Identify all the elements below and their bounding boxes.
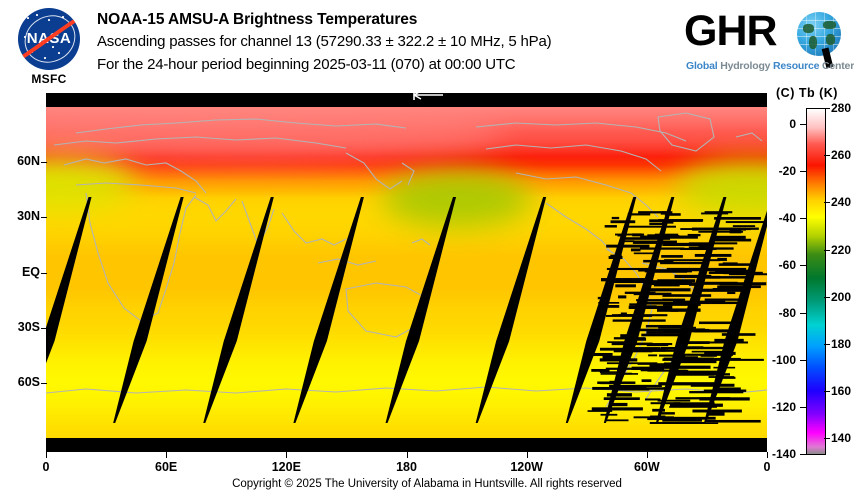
anomaly-scanline xyxy=(706,420,760,423)
anomaly-scanline xyxy=(662,299,685,301)
anomaly-scanline xyxy=(636,305,657,308)
anomaly-scanline xyxy=(638,211,670,213)
anomaly-scanline xyxy=(664,259,720,261)
longitude-tickmark xyxy=(407,452,408,458)
anomaly-scanline xyxy=(690,302,744,304)
anomaly-scanline xyxy=(730,230,742,233)
anomaly-scanline xyxy=(633,241,677,244)
anomaly-scanline xyxy=(622,373,632,375)
anomaly-scanline xyxy=(621,312,627,315)
anomaly-scanline xyxy=(600,371,622,373)
ghrc-subtitle: Global Hydrology Resource Center xyxy=(686,60,854,72)
colorbar-celsius-tickmark xyxy=(800,360,806,361)
anomaly-scanline xyxy=(657,279,695,282)
anomaly-scanline xyxy=(662,294,711,297)
anomaly-scanline xyxy=(612,343,653,346)
colorbar-kelvin-tickmark xyxy=(824,155,830,156)
orbit-gap-wedge xyxy=(386,341,420,423)
anomaly-scanline xyxy=(642,379,652,382)
anomaly-scanline xyxy=(619,240,634,242)
colorbar-kelvin-label-7: 140 xyxy=(831,431,851,445)
anomaly-scanline xyxy=(646,331,689,334)
anomaly-scanline xyxy=(631,248,641,251)
orbit-gap-wedge xyxy=(314,197,364,341)
longitude-tick-2: 120E xyxy=(256,460,316,474)
anomaly-scanline xyxy=(601,414,618,416)
anomaly-scanline xyxy=(620,334,637,337)
anomaly-scanline xyxy=(676,371,718,374)
orbit-gap-wedge xyxy=(406,197,456,341)
longitude-tick-1: 60E xyxy=(136,460,196,474)
figure-root: NASA MSFC NOAA-15 AMSU-A Brightness Temp… xyxy=(0,0,854,502)
anomaly-scanline xyxy=(664,387,671,389)
anomaly-scanline xyxy=(673,373,715,375)
colorbar-kelvin-label-6: 160 xyxy=(831,384,851,398)
anomaly-scanline xyxy=(661,255,683,258)
anomaly-scanline xyxy=(602,305,619,308)
anomaly-scanline xyxy=(661,343,672,345)
colorbar-celsius-tickmark xyxy=(800,124,806,125)
longitude-tickmark xyxy=(166,452,167,458)
nasa-swoosh-icon xyxy=(18,12,80,66)
anomaly-scanline xyxy=(658,400,691,402)
longitude-tick-5: 60W xyxy=(617,460,677,474)
colorbar-kelvin-label-3: 220 xyxy=(831,243,851,257)
anomaly-scanline xyxy=(688,234,701,236)
anomaly-scanline xyxy=(658,327,696,329)
nasa-center-label: MSFC xyxy=(10,72,88,86)
anomaly-scanline xyxy=(645,269,692,272)
colorbar-kelvin-tickmark xyxy=(824,297,830,298)
longitude-tickmark xyxy=(286,452,287,458)
colorbar-kelvin-tickmark xyxy=(824,438,830,439)
anomaly-scanline xyxy=(673,294,683,296)
anomaly-scanline xyxy=(714,239,751,242)
anomaly-scanline xyxy=(598,297,608,299)
anomaly-scanline xyxy=(733,225,755,227)
anomaly-scanline xyxy=(598,302,619,304)
anomaly-scanline xyxy=(625,347,660,350)
anomaly-scanline xyxy=(664,362,677,364)
anomaly-scanline xyxy=(605,419,628,421)
anomaly-scanline xyxy=(651,402,681,404)
title-block: NOAA-15 AMSU-A Brightness Temperatures A… xyxy=(97,10,677,76)
orbit-gap-wedge xyxy=(224,197,274,341)
anomaly-scanline xyxy=(692,410,741,413)
anomaly-scanline xyxy=(609,385,662,387)
anomaly-scanline xyxy=(662,423,718,424)
anomaly-scanline xyxy=(658,219,702,222)
longitude-tick-3: 180 xyxy=(377,460,437,474)
anomaly-scanline xyxy=(704,341,748,343)
anomaly-scanline xyxy=(719,263,753,266)
colorbar-kelvin-label-4: 200 xyxy=(831,290,851,304)
anomaly-scanline xyxy=(684,328,705,330)
anomaly-scanline xyxy=(648,354,657,356)
page-title: NOAA-15 AMSU-A Brightness Temperatures xyxy=(97,10,677,30)
anomaly-scanline xyxy=(709,272,763,274)
colorbar-kelvin-tickmark xyxy=(824,108,830,109)
anomaly-scanline xyxy=(713,367,735,369)
anomaly-scanline xyxy=(628,213,650,215)
orbit-gap-swaths xyxy=(46,93,767,424)
colorbar-kelvin-label-5: 180 xyxy=(831,337,851,351)
anomaly-scanline xyxy=(612,217,619,219)
orbit-gap-wedge xyxy=(203,341,237,423)
latitude-tick-60N: 60N xyxy=(0,154,40,168)
anomaly-scanline xyxy=(592,353,613,356)
anomaly-scanline xyxy=(609,381,621,384)
anomaly-scanline xyxy=(611,403,627,406)
anomaly-scanline xyxy=(639,329,684,332)
anomaly-scanline xyxy=(649,223,666,225)
bottom-no-data-band xyxy=(46,438,767,452)
colorbar xyxy=(806,108,826,455)
longitude-tickmark xyxy=(647,452,648,458)
anomaly-scanline xyxy=(650,416,665,419)
ghrc-globe-icon xyxy=(797,12,841,56)
anomaly-scanline xyxy=(624,237,670,240)
anomaly-scanline xyxy=(600,358,638,361)
colorbar-celsius-tickmark xyxy=(800,407,806,408)
anomaly-scanline xyxy=(659,355,685,357)
anomaly-scanline xyxy=(605,225,617,227)
colorbar-celsius-tickmark xyxy=(800,218,806,219)
anomaly-scanline xyxy=(604,397,640,400)
anomaly-scanline xyxy=(658,382,716,385)
anomaly-scanline xyxy=(680,228,720,230)
anomaly-scanline xyxy=(603,356,630,359)
channel-subtitle: Ascending passes for channel 13 (57290.3… xyxy=(97,30,677,53)
orbit-gap-wedge xyxy=(496,197,546,341)
colorbar-kelvin-label-0: 280 xyxy=(831,101,851,115)
anomaly-scanline xyxy=(647,234,669,237)
longitude-tick-4: 120W xyxy=(497,460,557,474)
anomaly-scanline xyxy=(662,419,702,422)
period-subtitle: For the 24-hour period beginning 2025-03… xyxy=(97,53,677,76)
anomaly-scanline xyxy=(690,247,734,249)
anomaly-scanline xyxy=(615,388,649,390)
orbit-gap-wedge xyxy=(134,197,184,341)
colorbar-celsius-tickmark xyxy=(800,171,806,172)
anomaly-scanline xyxy=(652,409,665,412)
anomaly-scanline xyxy=(701,354,717,357)
latitude-tick-EQ: EQ xyxy=(0,265,40,279)
anomaly-scanline xyxy=(612,314,643,316)
anomaly-scanline xyxy=(641,334,680,337)
anomaly-scanline xyxy=(588,410,613,412)
anomaly-scanline xyxy=(708,412,724,415)
anomaly-scanline xyxy=(615,284,636,287)
latitude-tick-30S: 30S xyxy=(0,320,40,334)
colorbar-kelvin-label-1: 260 xyxy=(831,148,851,162)
latitude-tick-60S: 60S xyxy=(0,375,40,389)
anomaly-scanline xyxy=(709,270,753,272)
anomaly-scanline xyxy=(705,299,745,301)
anomaly-scanline xyxy=(609,256,623,259)
orbit-gap-wedge xyxy=(293,341,326,423)
anomaly-scanline xyxy=(607,393,632,396)
longitude-tickmark xyxy=(527,452,528,458)
colorbar-celsius-tickmark xyxy=(800,313,806,314)
anomaly-scanline xyxy=(717,387,741,389)
colorbar-header: (C) Tb (K) xyxy=(776,86,838,100)
anomaly-scanline xyxy=(634,252,658,254)
nasa-meatball-icon: NASA xyxy=(18,8,80,70)
anomaly-scanline xyxy=(613,319,666,321)
copyright-notice: Copyright © 2025 The University of Alaba… xyxy=(0,478,854,490)
anomaly-scanline xyxy=(658,412,674,414)
anomaly-scanline xyxy=(657,308,701,311)
colorbar-kelvin-tickmark xyxy=(824,391,830,392)
ghrc-acronym: GHR xyxy=(684,8,777,55)
orbit-gap-wedge xyxy=(46,341,55,423)
longitude-tick-0: 0 xyxy=(16,460,76,474)
colorbar-kelvin-tickmark xyxy=(824,202,830,203)
anomaly-scanline xyxy=(665,213,681,216)
anomaly-scanline xyxy=(640,247,684,249)
colorbar-celsius-tickmark xyxy=(800,265,806,266)
anomaly-scanline xyxy=(601,373,638,375)
orbit-gap-wedge xyxy=(113,341,146,423)
longitude-tickmark xyxy=(46,452,47,458)
latitude-tick-30N: 30N xyxy=(0,209,40,223)
anomaly-scanline xyxy=(611,220,636,223)
anomaly-scanline xyxy=(722,333,756,336)
anomaly-scanline xyxy=(702,276,721,279)
anomaly-scanline xyxy=(727,292,735,294)
anomaly-scanline xyxy=(713,236,746,239)
anomaly-scanline xyxy=(699,397,749,400)
longitude-tick-6: 0 xyxy=(737,460,797,474)
orbit-gap-wedge xyxy=(476,341,510,423)
anomaly-scanline xyxy=(663,304,701,306)
top-no-data-band xyxy=(46,93,767,107)
ascending-node-arrow-icon xyxy=(411,89,445,101)
colorbar-kelvin-tickmark xyxy=(824,344,830,345)
anomaly-scanline xyxy=(641,368,653,371)
anomaly-scanline xyxy=(713,288,743,291)
anomaly-scanline xyxy=(705,211,733,213)
orbit-gap-wedge xyxy=(46,197,92,341)
anomaly-scanline xyxy=(646,288,690,291)
colorbar-kelvin-tickmark xyxy=(824,250,830,251)
anomaly-scanline xyxy=(632,338,645,340)
anomaly-scanline xyxy=(610,245,619,247)
anomaly-scanline xyxy=(671,309,679,311)
anomaly-scanline xyxy=(694,358,741,360)
anomaly-scanline xyxy=(709,376,735,378)
ghrc-logo: GHR Global Hydrology Resource Center xyxy=(684,8,846,80)
anomaly-scanline xyxy=(624,226,676,228)
anomaly-scanline xyxy=(729,228,758,230)
colorbar-kelvin-label-2: 240 xyxy=(831,195,851,209)
anomaly-scanline xyxy=(695,254,732,257)
nasa-logo: NASA MSFC xyxy=(10,6,88,90)
map-plot-area xyxy=(46,93,767,452)
anomaly-scanline xyxy=(650,364,666,367)
anomaly-scanline xyxy=(714,217,761,220)
colorbar-celsius-tickmark xyxy=(800,454,806,455)
anomaly-scanline xyxy=(717,285,761,288)
anomaly-scanline xyxy=(625,292,656,294)
anomaly-scanline xyxy=(699,322,740,325)
anomaly-scanline xyxy=(720,282,767,285)
anomaly-scanline xyxy=(683,347,727,349)
anomaly-scanline xyxy=(726,221,767,223)
anomaly-scanline xyxy=(592,407,643,410)
anomaly-scanline xyxy=(618,295,626,298)
anomaly-scanline xyxy=(617,235,623,237)
